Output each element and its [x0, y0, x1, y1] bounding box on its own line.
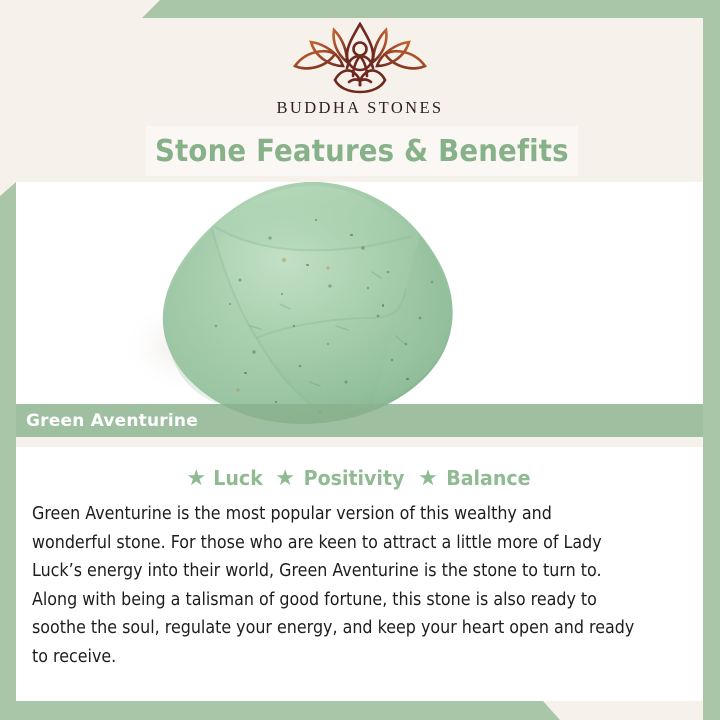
star-icon: ★	[275, 467, 295, 489]
frame-left-bar	[0, 182, 16, 720]
stone-name-label: Green Aventurine	[16, 404, 703, 437]
header-section: BUDDHA STONES Stone Features & Benefits	[0, 0, 720, 182]
stone-name-text: Green Aventurine	[26, 411, 198, 431]
brand-logo: BUDDHA STONES	[0, 22, 720, 118]
star-icon: ★	[186, 467, 206, 489]
lotus-meditation-icon	[287, 22, 433, 96]
star-icon: ★	[418, 467, 438, 489]
benefits-row: ★ Luck ★ Positivity ★ Balance	[16, 466, 703, 490]
benefit-label: Balance	[446, 466, 530, 490]
benefit-label: Positivity	[304, 466, 405, 490]
panel-top-strip	[16, 437, 703, 447]
benefit-item-luck: ★ Luck	[186, 466, 264, 490]
page-title: Stone Features & Benefits	[155, 134, 569, 169]
green-aventurine-stone-image	[120, 182, 540, 437]
title-banner: Stone Features & Benefits	[146, 126, 578, 176]
stone-features-infographic: BUDDHA STONES Stone Features & Benefits	[0, 0, 720, 720]
frame-bottom-bar	[0, 701, 720, 720]
benefit-label: Luck	[213, 466, 263, 490]
frame-right-bar	[703, 0, 720, 720]
benefit-item-balance: ★ Balance	[418, 466, 532, 490]
stone-photo	[16, 182, 703, 437]
description-text: Green Aventurine is the most popular ver…	[32, 500, 636, 671]
brand-wordmark: BUDDHA STONES	[0, 98, 720, 118]
benefit-item-positivity: ★ Positivity	[275, 466, 407, 490]
